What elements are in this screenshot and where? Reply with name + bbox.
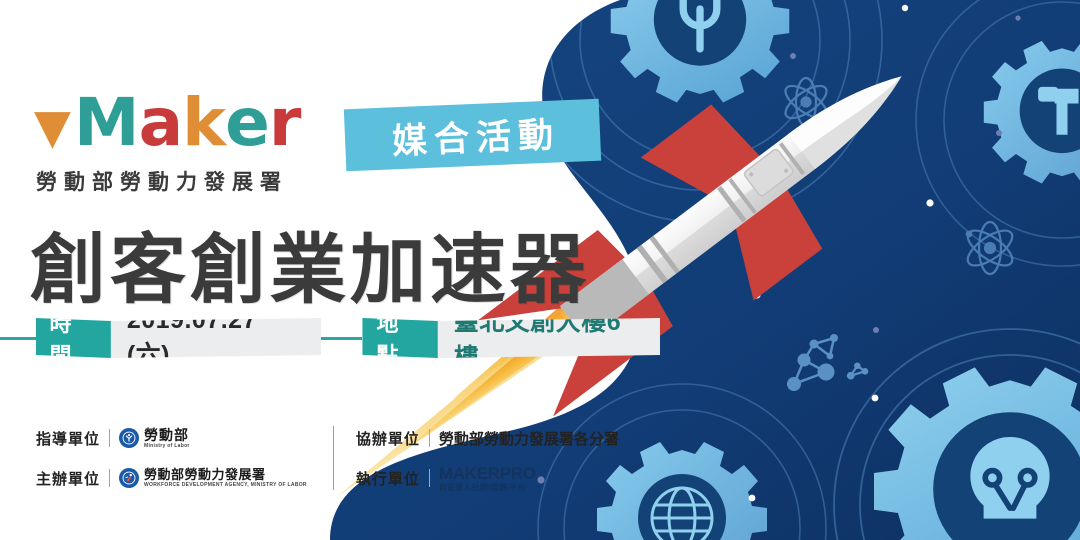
event-banner: ▼ M a k e r 勞動部勞動力發展署 媒合活動 創客創業加速器 時間 20… — [0, 0, 1080, 540]
logo-letter-e: e — [225, 92, 269, 155]
credit-label-organizer: 主辦單位 — [36, 468, 100, 489]
time-value: 2019.07.27 (六) — [111, 318, 321, 358]
credit-label-coorganizer: 協辦單位 — [356, 428, 420, 449]
workforce-development-agency-emblem-icon — [119, 468, 139, 488]
credit-label-executor: 執行單位 — [356, 468, 420, 489]
credit-separator — [429, 429, 430, 447]
logo-letter-v: ▼ — [34, 105, 70, 151]
credit-row-coorganizer: 協辦單位 勞動部勞動力發展署各分署 — [356, 424, 619, 452]
event-type-badge-label: 媒合活動 — [384, 106, 561, 164]
ministry-of-labor-name-en: Ministry of Labor — [144, 444, 190, 449]
makerpro-wordmark: MAKERPRO — [439, 465, 536, 482]
event-type-badge: 媒合活動 — [344, 99, 601, 172]
logo-letter-M: M — [74, 92, 139, 155]
event-info-bar: 時間 2019.07.27 (六) 地點 臺北文創大樓6樓 — [0, 316, 660, 360]
credit-separator — [109, 429, 110, 447]
logo-subtitle: 勞動部勞動力發展署 — [36, 166, 288, 196]
logo-letter-k: k — [182, 92, 225, 155]
lead-line — [0, 337, 36, 340]
time-label: 時間 — [36, 318, 111, 358]
credits-left-column: 指導單位 勞動部 — [36, 424, 307, 492]
credit-row-executor: 執行單位 MAKERPRO 自造達人社群/媒體/平台 — [356, 464, 619, 492]
wda-name-cn: 勞動部勞動力發展署 — [144, 468, 307, 481]
page-title: 創客創業加速器 — [30, 208, 590, 318]
credit-label-advisor: 指導單位 — [36, 428, 100, 449]
ministry-of-labor-emblem-icon — [119, 428, 139, 448]
ministry-of-labor-logo: 勞動部 Ministry of Labor — [119, 428, 190, 449]
credit-separator — [429, 469, 430, 487]
banner-content: ▼ M a k e r 勞動部勞動力發展署 媒合活動 創客創業加速器 時間 20… — [0, 0, 660, 540]
logo-letter-r: r — [269, 92, 301, 155]
vmaker-logo: ▼ M a k e r — [34, 92, 300, 155]
makerpro-logo: MAKERPRO 自造達人社群/媒體/平台 — [439, 465, 536, 492]
wda-name-en: WORKFORCE DEVELOPMENT AGENCY, MINISTRY O… — [144, 483, 307, 488]
makerpro-tagline: 自造達人社群/媒體/平台 — [439, 484, 536, 492]
credits: 指導單位 勞動部 — [36, 424, 619, 492]
credit-row-advisor: 指導單位 勞動部 — [36, 424, 307, 452]
place-value: 臺北文創大樓6樓 — [438, 318, 660, 358]
credit-row-organizer: 主辦單位 勞動部勞動 — [36, 464, 307, 492]
logo-letter-a: a — [139, 92, 183, 155]
credits-right-column: 協辦單位 勞動部勞動力發展署各分署 執行單位 MAKERPRO 自造達人社群/媒… — [356, 424, 619, 492]
place-label: 地點 — [362, 318, 437, 358]
credit-separator — [109, 469, 110, 487]
credits-column-divider — [333, 426, 334, 490]
wda-logo: 勞動部勞動力發展署 WORKFORCE DEVELOPMENT AGENCY, … — [119, 468, 307, 488]
mid-line — [321, 337, 362, 340]
coorganizer-text: 勞動部勞動力發展署各分署 — [439, 428, 619, 449]
ministry-of-labor-name-cn: 勞動部 — [144, 428, 190, 442]
